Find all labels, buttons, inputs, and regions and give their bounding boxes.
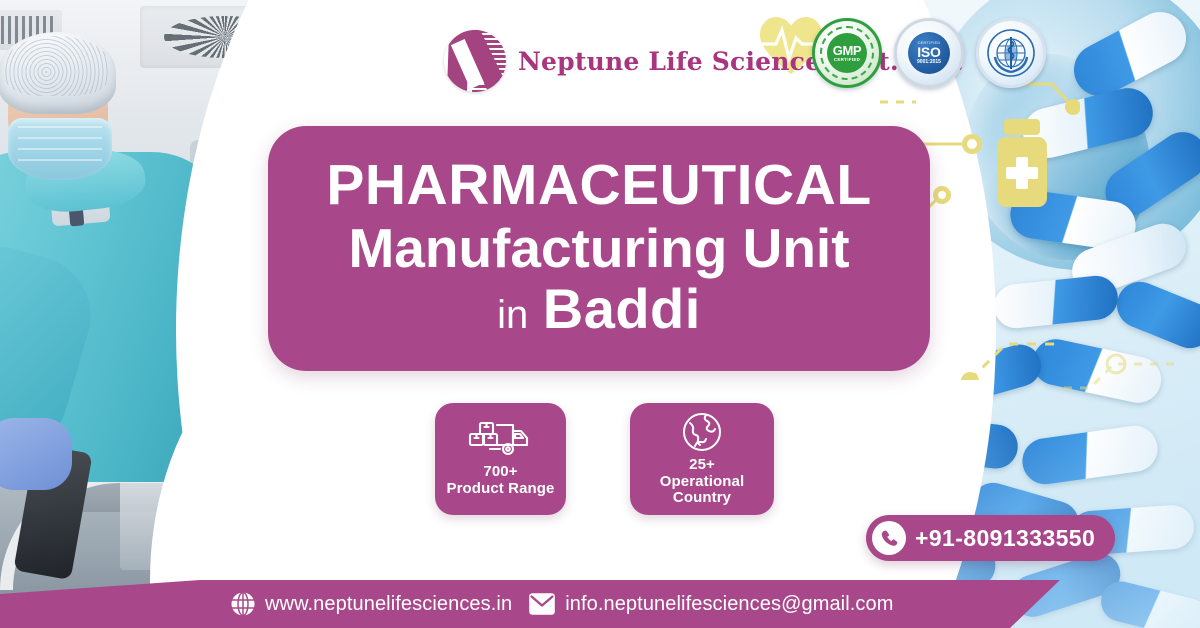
feature-label: Operational Country xyxy=(660,474,744,508)
feature-chip-product-range[interactable]: 700+ Product Range xyxy=(435,403,566,515)
globe-icon xyxy=(230,591,256,617)
iso-standard-label: 9001:2015 xyxy=(917,60,941,65)
feature-label: Product Range xyxy=(447,481,555,498)
feature-chip-operational-country[interactable]: 25+ Operational Country xyxy=(630,403,774,515)
headline-city: Baddi xyxy=(543,277,701,340)
hair-net xyxy=(0,32,116,114)
gmp-label: GMP xyxy=(833,44,861,57)
face-mask xyxy=(8,118,112,180)
headline-line-2: Manufacturing Unit xyxy=(308,220,890,277)
promotional-banner: Neptune Life Sciences Pvt. Ltd. GMP CERT… xyxy=(0,0,1200,628)
feature-count: 25+ xyxy=(689,457,715,474)
feature-count: 700+ xyxy=(483,464,517,481)
neptune-n-logo-icon xyxy=(444,30,506,92)
headline-line-3: in Baddi xyxy=(308,279,890,339)
phone-icon xyxy=(872,521,906,555)
gmp-sublabel: CERTIFIED xyxy=(834,58,860,63)
gmp-certified-badge-icon: GMP CERTIFIED xyxy=(812,18,882,88)
contact-footer-bar: www.neptunelifesciences.in info.neptunel… xyxy=(0,580,1060,628)
envelope-icon xyxy=(528,592,556,616)
who-emblem-badge-icon xyxy=(976,18,1046,88)
headline-line-3-prefix: in xyxy=(497,293,528,337)
iso-top-label: CERTIFIED xyxy=(918,41,941,45)
delivery-truck-boxes-icon xyxy=(468,420,534,460)
globe-icon xyxy=(681,411,723,453)
certification-badges: GMP CERTIFIED CERTIFIED ISO 9001:2015 xyxy=(812,18,1046,88)
iso-label: ISO xyxy=(917,45,941,59)
website-url: www.neptunelifesciences.in xyxy=(265,593,512,616)
glove-left xyxy=(0,418,72,490)
headline-card: PHARMACEUTICAL Manufacturing Unit in Bad… xyxy=(268,126,930,371)
email-contact[interactable]: info.neptunelifesciences@gmail.com xyxy=(528,592,893,616)
phone-number: +91-8091333550 xyxy=(915,525,1095,552)
phone-cta[interactable]: +91-8091333550 xyxy=(866,515,1115,561)
website-contact[interactable]: www.neptunelifesciences.in xyxy=(230,591,512,617)
iso-certified-badge-icon: CERTIFIED ISO 9001:2015 xyxy=(894,18,964,88)
email-address: info.neptunelifesciences@gmail.com xyxy=(565,593,893,616)
headline-line-1: PHARMACEUTICAL xyxy=(308,157,890,214)
